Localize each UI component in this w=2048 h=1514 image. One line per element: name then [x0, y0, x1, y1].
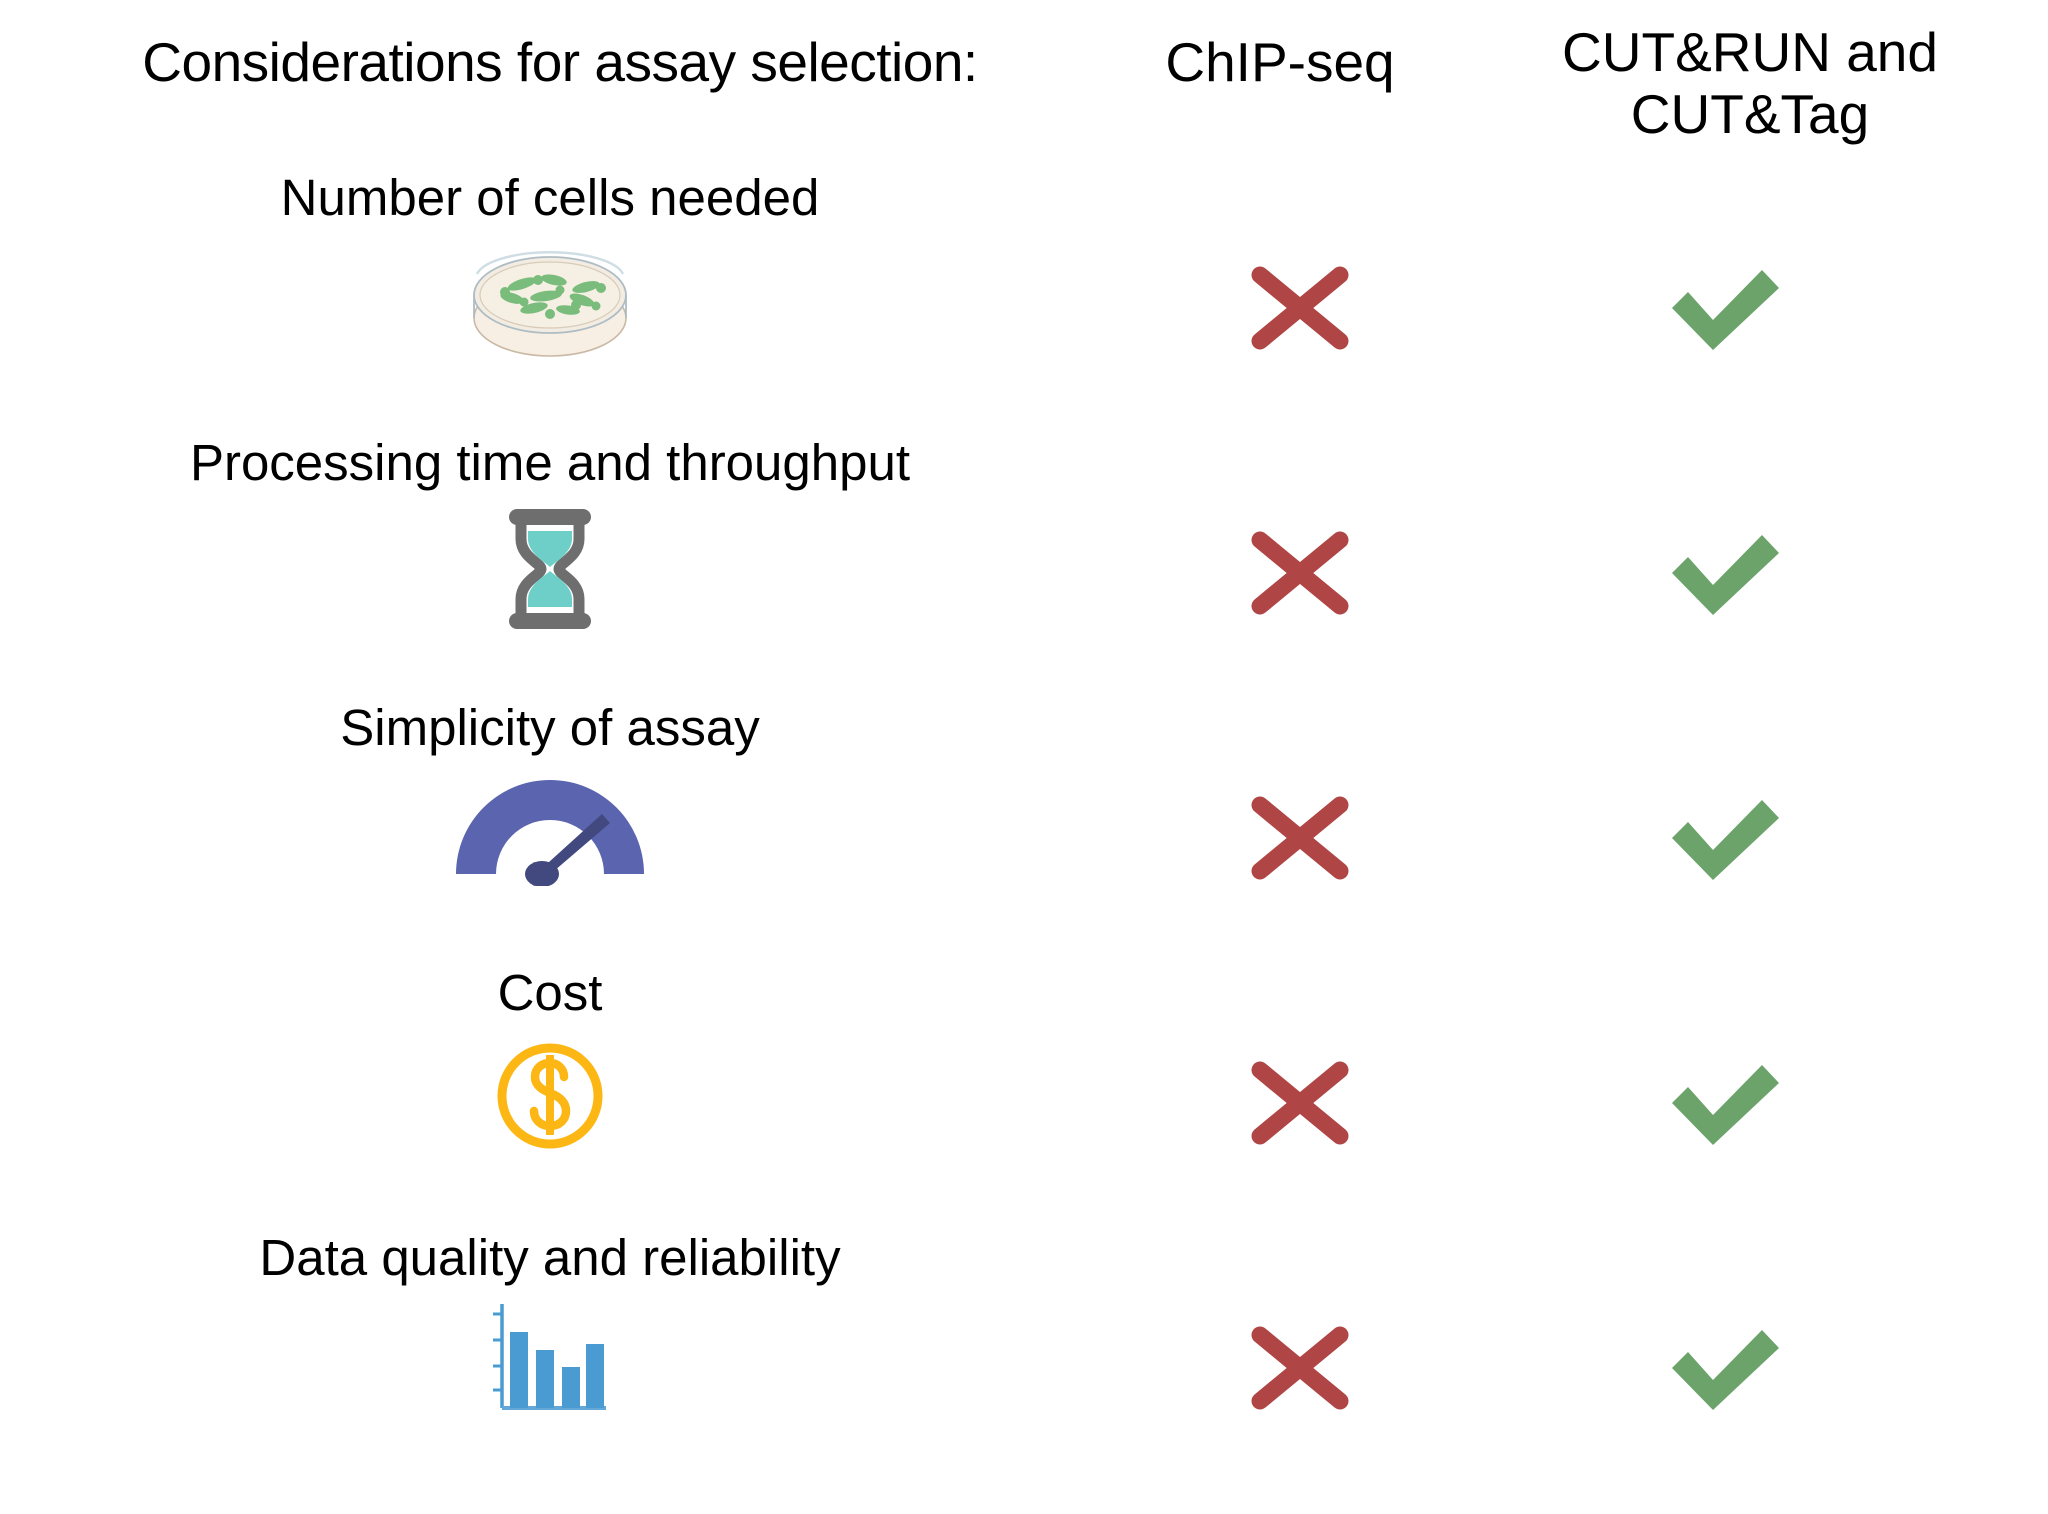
- table-row: Cost: [0, 945, 2048, 1210]
- check-icon: [1668, 792, 1783, 884]
- column-header-cutrun-cuttag-line2: CUT&Tag: [1500, 84, 2000, 146]
- cell-cutrun-cuttag-check: [1575, 1023, 1875, 1183]
- cross-icon: [1245, 1322, 1355, 1414]
- cell-cutrun-cuttag-check: [1575, 228, 1875, 388]
- row-icon-wrapper: [40, 240, 1060, 390]
- cross-icon: [1245, 1057, 1355, 1149]
- column-header-cutrun-cuttag-line1: CUT&RUN and: [1500, 22, 2000, 84]
- row-criterion-cost: Cost: [40, 945, 1060, 1210]
- hourglass-icon: [495, 505, 605, 633]
- table-header-row: Considerations for assay selection: ChIP…: [0, 0, 2048, 160]
- row-icon-wrapper: [40, 505, 1060, 655]
- page-title: Considerations for assay selection:: [60, 32, 1060, 93]
- cell-cutrun-cuttag-check: [1575, 758, 1875, 918]
- cross-icon: [1245, 262, 1355, 354]
- comparison-rows: Number of cells needed: [0, 150, 2048, 1475]
- cell-chip-seq-cross: [1150, 228, 1450, 388]
- assay-comparison-slide: Considerations for assay selection: ChIP…: [0, 0, 2048, 1514]
- table-row: Number of cells needed: [0, 150, 2048, 415]
- check-icon: [1668, 527, 1783, 619]
- cell-chip-seq-cross: [1150, 1288, 1450, 1448]
- cell-chip-seq-cross: [1150, 758, 1450, 918]
- row-icon-wrapper: [40, 770, 1060, 920]
- check-icon: [1668, 1057, 1783, 1149]
- row-criterion-data-quality: Data quality and reliability: [40, 1210, 1060, 1475]
- cell-chip-seq-cross: [1150, 493, 1450, 653]
- cell-chip-seq-cross: [1150, 1023, 1450, 1183]
- table-row: Processing time and throughput: [0, 415, 2048, 680]
- cell-cutrun-cuttag-check: [1575, 493, 1875, 653]
- row-label: Data quality and reliability: [40, 1230, 1060, 1286]
- column-header-chip-seq: ChIP-seq: [1080, 32, 1480, 94]
- table-row: Data quality and reliability: [0, 1210, 2048, 1475]
- cell-cutrun-cuttag-check: [1575, 1288, 1875, 1448]
- column-header-chip-seq-label: ChIP-seq: [1165, 31, 1394, 93]
- check-icon: [1668, 262, 1783, 354]
- gauge-icon: [452, 770, 648, 886]
- row-label: Simplicity of assay: [40, 700, 1060, 756]
- row-icon-wrapper: [40, 1035, 1060, 1185]
- column-header-cutrun-cuttag: CUT&RUN and CUT&Tag: [1500, 22, 2000, 145]
- row-criterion-processing-time: Processing time and throughput: [40, 415, 1060, 680]
- row-icon-wrapper: [40, 1300, 1060, 1450]
- row-label: Number of cells needed: [40, 170, 1060, 226]
- check-icon: [1668, 1322, 1783, 1414]
- cross-icon: [1245, 792, 1355, 884]
- row-criterion-cells: Number of cells needed: [40, 150, 1060, 415]
- bar-chart-icon: [488, 1300, 612, 1422]
- row-label: Cost: [40, 965, 1060, 1021]
- cross-icon: [1245, 527, 1355, 619]
- dollar-coin-icon: [490, 1035, 610, 1157]
- row-label: Processing time and throughput: [40, 435, 1060, 491]
- table-row: Simplicity of assay: [0, 680, 2048, 945]
- petri-dish-icon: [450, 240, 650, 368]
- row-criterion-simplicity: Simplicity of assay: [40, 680, 1060, 945]
